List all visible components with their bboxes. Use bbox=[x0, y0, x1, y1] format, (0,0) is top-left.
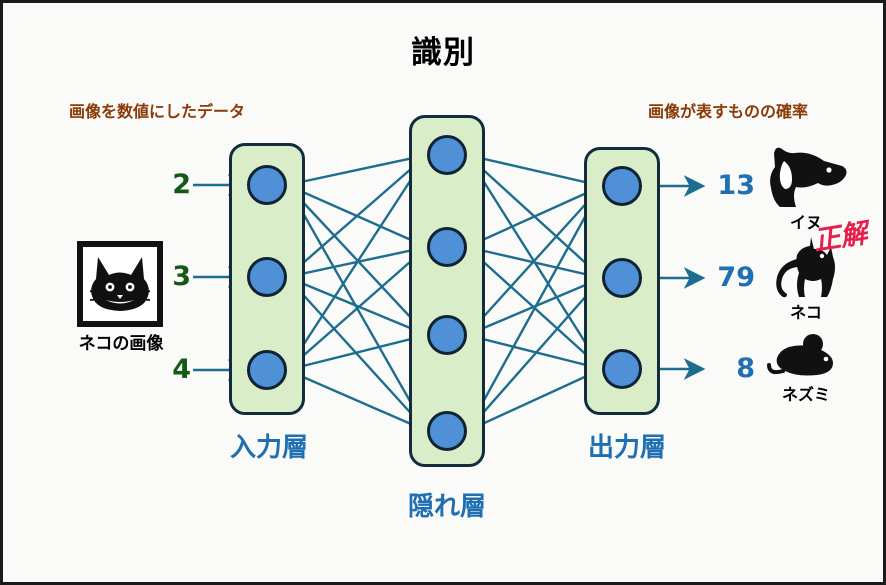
hidden-node-2[interactable] bbox=[427, 227, 467, 267]
diagram-canvas: 識別 画像を数値にしたデータ 画像が表すものの確率 ネコの画像 2 3 4 bbox=[0, 0, 886, 585]
hidden-node-1[interactable] bbox=[427, 135, 467, 175]
input-node-2[interactable] bbox=[247, 257, 287, 297]
hidden-node-3[interactable] bbox=[427, 315, 467, 355]
page-title: 識別 bbox=[3, 27, 883, 72]
output-node-1[interactable] bbox=[602, 166, 642, 206]
hidden-node-4[interactable] bbox=[427, 411, 467, 451]
source-image-caption: ネコの画像 bbox=[55, 329, 187, 354]
output-class-mouse: ネズミ bbox=[751, 333, 861, 405]
input-value-1: 2 bbox=[151, 169, 191, 200]
output-node-3[interactable] bbox=[602, 349, 642, 389]
output-value-dog: 13 bbox=[701, 170, 755, 201]
hidden-layer-label: 隠れ層 bbox=[377, 486, 517, 523]
input-value-3: 4 bbox=[151, 354, 191, 385]
output-value-cat: 79 bbox=[701, 262, 755, 293]
input-node-1[interactable] bbox=[247, 165, 287, 205]
caption-output-prob: 画像が表すものの確率 bbox=[648, 98, 808, 122]
input-layer-label: 入力層 bbox=[199, 427, 339, 464]
output-node-2[interactable] bbox=[602, 258, 642, 298]
edges-hidden-output bbox=[467, 155, 602, 431]
input-node-3[interactable] bbox=[247, 350, 287, 390]
input-value-2: 3 bbox=[151, 261, 191, 292]
correct-answer-badge: 正解 bbox=[810, 211, 869, 258]
edges-input-hidden bbox=[287, 155, 427, 431]
cat-face-icon bbox=[88, 253, 152, 315]
output-layer-label: 出力層 bbox=[557, 427, 697, 464]
mouse-icon bbox=[751, 333, 861, 385]
output-value-mouse: 8 bbox=[701, 353, 755, 384]
caption-input-data: 画像を数値にしたデータ bbox=[69, 98, 245, 122]
dog-icon bbox=[751, 143, 861, 213]
